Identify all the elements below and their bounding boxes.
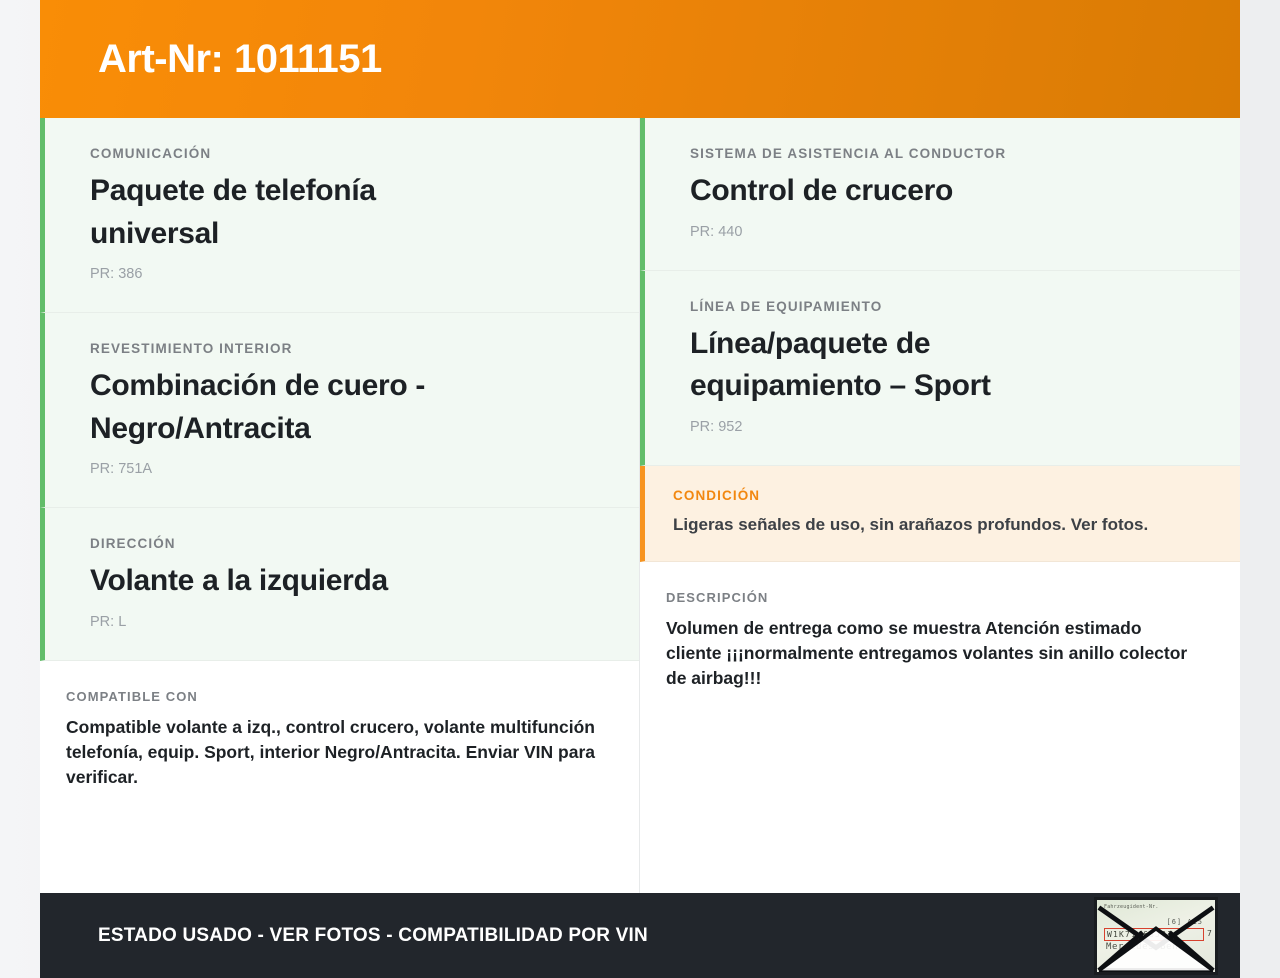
- spec-value: Paquete de telefonía universal: [90, 170, 510, 255]
- spec-value: Línea/paquete de equipamiento – Sport: [690, 323, 1120, 408]
- compatibility-label: COMPATIBLE CON: [66, 689, 599, 704]
- condition-card: CONDICIÓN Ligeras señales de uso, sin ar…: [640, 466, 1240, 562]
- spec-card: LÍNEA DE EQUIPAMIENTO Línea/paquete de e…: [640, 271, 1240, 466]
- left-column: COMUNICACIÓN Paquete de telefonía univer…: [40, 118, 640, 893]
- spec-card: REVESTIMIENTO INTERIOR Combinación de cu…: [40, 313, 639, 508]
- spec-card: SISTEMA DE ASISTENCIA AL CONDUCTOR Contr…: [640, 118, 1240, 271]
- right-column: SISTEMA DE ASISTENCIA AL CONDUCTOR Contr…: [640, 118, 1240, 893]
- spec-value: Combinación de cuero - Negro/Antracita: [90, 365, 510, 450]
- spec-pr-code: PR: L: [90, 614, 639, 630]
- right-column-spacer: [640, 716, 1240, 893]
- vin-envelope-badge: Fahrzeugident-Nr. [6] A15 W1K71463J31 7 …: [1094, 897, 1218, 975]
- spec-card: COMUNICACIÓN Paquete de telefonía univer…: [40, 118, 639, 313]
- description-label: DESCRIPCIÓN: [666, 590, 1200, 605]
- spec-label: DIRECCIÓN: [90, 536, 639, 551]
- compatibility-text: Compatible volante a izq., control cruce…: [66, 715, 599, 790]
- spec-pr-code: PR: 440: [690, 224, 1240, 240]
- compatibility-block: COMPATIBLE CON Compatible volante a izq.…: [40, 661, 639, 816]
- spec-label: LÍNEA DE EQUIPAMIENTO: [690, 299, 1240, 314]
- spec-pr-code: PR: 386: [90, 266, 639, 282]
- spec-pr-code: PR: 952: [690, 419, 1240, 435]
- spec-value: Control de crucero: [690, 170, 1120, 213]
- spec-pr-code: PR: 751A: [90, 461, 639, 477]
- spec-card: DIRECCIÓN Volante a la izquierda PR: L: [40, 508, 639, 661]
- condition-text: Ligeras señales de uso, sin arañazos pro…: [673, 512, 1213, 537]
- page-title: Art-Nr: 1011151: [98, 37, 382, 81]
- condition-label: CONDICIÓN: [673, 488, 1240, 503]
- spec-label: REVESTIMIENTO INTERIOR: [90, 341, 639, 356]
- description-text: Volumen de entrega como se muestra Atenc…: [666, 616, 1200, 691]
- footer-notice: ESTADO USADO - VER FOTOS - COMPATIBILIDA…: [98, 925, 648, 947]
- description-block: DESCRIPCIÓN Volumen de entrega como se m…: [640, 562, 1240, 717]
- page-header: Art-Nr: 1011151: [40, 0, 1240, 118]
- listing-page: Art-Nr: 1011151 COMUNICACIÓN Paquete de …: [40, 0, 1240, 978]
- envelope-icon: [1097, 900, 1215, 974]
- left-column-spacer: [40, 816, 639, 894]
- spec-label: SISTEMA DE ASISTENCIA AL CONDUCTOR: [690, 146, 1240, 161]
- content-body: COMUNICACIÓN Paquete de telefonía univer…: [40, 118, 1240, 893]
- spec-label: COMUNICACIÓN: [90, 146, 639, 161]
- spec-value: Volante a la izquierda: [90, 560, 510, 603]
- page-footer: ESTADO USADO - VER FOTOS - COMPATIBILIDA…: [40, 893, 1240, 978]
